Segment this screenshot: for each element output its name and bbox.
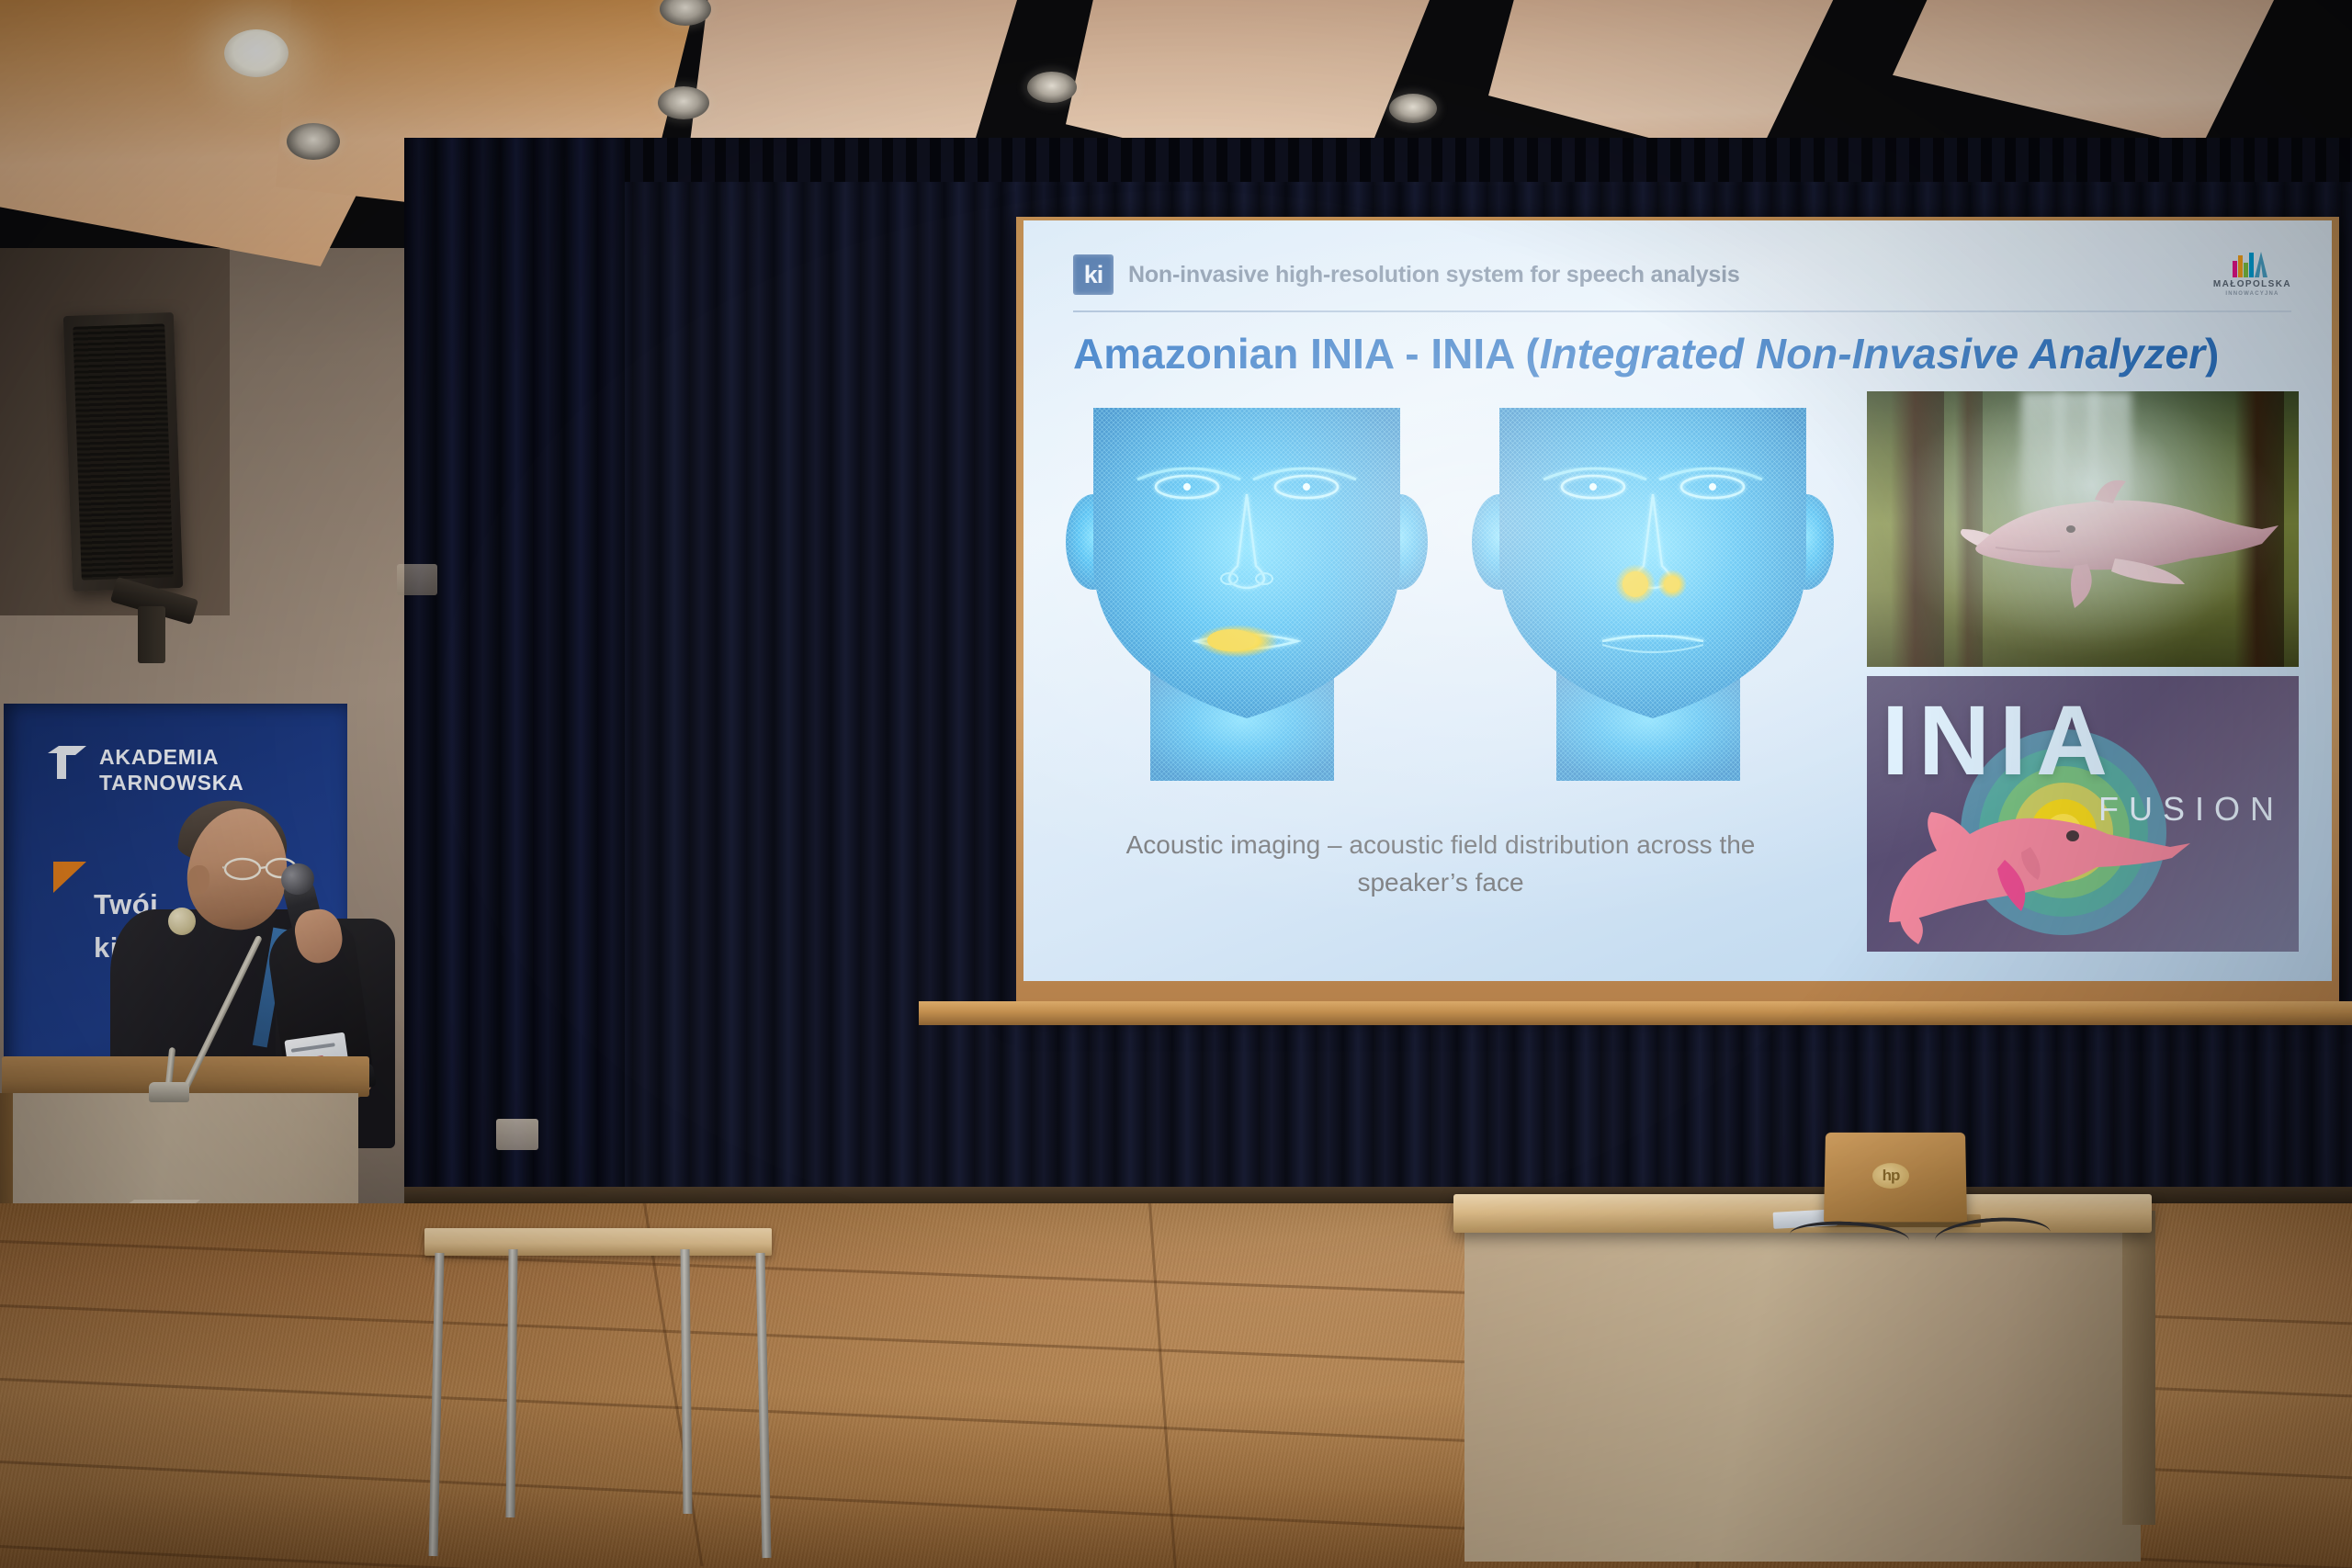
banner-triangle-accent	[53, 862, 86, 893]
presentation-laptop[interactable]: hp	[1824, 1133, 1967, 1222]
underwater-haze	[1867, 391, 2299, 667]
presentation-desk-front	[1464, 1231, 2141, 1562]
banner-logo: AKADEMIA TARNOWSKA	[48, 744, 244, 795]
presentation-desk-side	[2122, 1211, 2155, 1525]
inia-wordmark: INIA	[1882, 691, 2286, 790]
downlight-4	[658, 86, 709, 119]
hp-logo-icon: hp	[1872, 1163, 1909, 1189]
slide-title-main: Amazonian INIA - INIA (	[1073, 330, 1540, 378]
wall-speaker	[63, 312, 183, 592]
downlight-6	[1389, 94, 1437, 123]
screen-ledge	[919, 1001, 2352, 1025]
presentation-slide: ki Non-invasive high-resolution system f…	[1023, 220, 2332, 981]
slide-caption: Acoustic imaging – acoustic field distri…	[1055, 827, 1826, 901]
acoustic-figures	[1040, 395, 1849, 799]
downlight-1	[224, 29, 288, 77]
speaker-grille	[73, 323, 174, 580]
gooseneck-microphone-capsule	[168, 908, 196, 935]
caption-line-1: Acoustic imaging – acoustic field distri…	[1055, 827, 1826, 864]
curtain-valance	[404, 138, 2352, 182]
malopolska-mark-icon	[2231, 250, 2273, 277]
malopolska-subtitle: INNOWACYJNA	[2225, 291, 2278, 297]
banner-title: AKADEMIA TARNOWSKA	[99, 744, 244, 795]
slide-title-end: )	[2205, 330, 2219, 378]
projection-screen: ki Non-invasive high-resolution system f…	[1023, 220, 2332, 981]
t-logo-icon	[48, 744, 86, 779]
ki-logo: ki	[1073, 254, 1114, 295]
amazon-river-dolphin-photo	[1867, 391, 2299, 667]
slide-title: Amazonian INIA - INIA (Integrated Non-In…	[1073, 329, 2295, 378]
downlight-5	[1027, 72, 1077, 103]
downlight-2	[287, 123, 340, 160]
gooseneck-microphone-base	[149, 1082, 189, 1102]
inia-fusion-logo: INIA FUSION	[1867, 676, 2299, 952]
fusion-wordmark: FUSION	[2098, 790, 2284, 829]
small-side-table-top	[424, 1228, 772, 1256]
badge-line	[291, 1043, 335, 1053]
slide-header: ki Non-invasive high-resolution system f…	[1073, 246, 2291, 303]
malopolska-logo: MAŁOPOLSKA INNOWACYJNA	[2213, 250, 2291, 297]
slide-header-divider	[1073, 310, 2291, 312]
malopolska-name: MAŁOPOLSKA	[2213, 279, 2291, 289]
slide-title-italic: Integrated Non-Invasive Analyzer	[1540, 330, 2205, 378]
presenter-ear	[187, 865, 209, 895]
acoustic-head-nostrils	[1455, 395, 1850, 790]
wall-plate	[397, 564, 437, 595]
acoustic-head-mouth	[1049, 395, 1444, 790]
banner-line-1: AKADEMIA	[99, 744, 244, 770]
curtain-left-panel	[404, 138, 625, 1203]
slide-header-title: Non-invasive high-resolution system for …	[1128, 262, 1740, 288]
wall-outlet	[496, 1119, 538, 1150]
conference-photo-scene: ki Non-invasive high-resolution system f…	[0, 0, 2352, 1568]
caption-line-2: speaker’s face	[1055, 864, 1826, 902]
banner-line-2: TARNOWSKA	[99, 770, 244, 795]
speaker-mount-bracket	[138, 606, 165, 663]
